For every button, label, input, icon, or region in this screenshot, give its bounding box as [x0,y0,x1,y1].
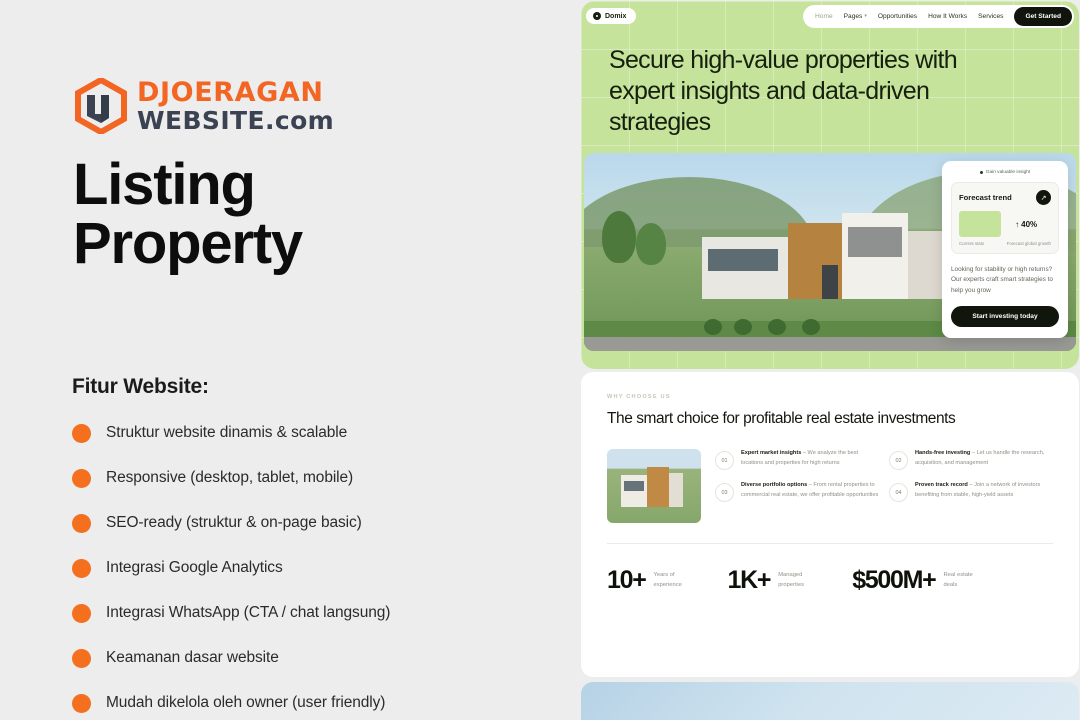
features-list: Struktur website dinamis & scalableRespo… [72,418,542,720]
page-title-line2: Property [73,211,302,276]
section-title: The smart choice for profitable real est… [607,409,1053,429]
stat-label: Managed properties [778,571,822,590]
shrub-shape [768,319,786,335]
feature-item: Integrasi WhatsApp (CTA / chat langsung) [72,598,542,628]
tree-shape [602,211,636,263]
stat-value: 10+ [607,566,646,595]
house-window [848,227,902,257]
arrow-up-right-icon[interactable]: ↗ [1036,190,1051,205]
why-feature-title: Expert market insights [741,450,801,456]
forecast-trend-panel: Forecast trend ↗ ↑ 40% Current stats For… [951,182,1059,254]
forecast-metric-value: 40% [1021,220,1037,229]
bullet-dot-icon [72,649,91,668]
feature-item: Integrasi Google Analytics [72,553,542,583]
mockup-logo-label: Domix [605,13,626,20]
features-heading: Fitur Website: [72,375,209,399]
why-feature-number: 04 [889,483,908,502]
section-body: 01Expert market insights – We analyze th… [607,449,1053,523]
card-top-label: Gain valuable insight [986,170,1031,175]
nav-link-opportunities[interactable]: Opportunities [878,13,917,20]
stat-item: 10+Years of experience [607,566,698,595]
small-house-illustration [621,465,683,507]
feature-label: Responsive (desktop, tablet, mobile) [106,469,353,487]
bullet-dot-icon [72,559,91,578]
house-block [669,473,683,507]
bullet-dot-icon [72,694,91,713]
nav-link-label: Services [978,13,1003,20]
nav-link-home[interactable]: Home [815,13,833,20]
why-feature-title: Diverse portfolio options [741,482,807,488]
feature-label: SEO-ready (struktur & on-page basic) [106,514,362,532]
website-mockup: Domix HomePages▾OpportunitiesHow It Work… [580,0,1080,720]
tree-shape [636,223,666,265]
hero-property-photo: Gain valuable insight Forecast trend ↗ ↑… [584,153,1076,351]
stat-label: Real estate deals [943,571,987,590]
feature-label: Keamanan dasar website [106,649,279,667]
mockup-logo-badge[interactable]: Domix [586,8,636,24]
feature-item: Struktur website dinamis & scalable [72,418,542,448]
mockup-nav-links: HomePages▾OpportunitiesHow It WorksServi… [803,5,1074,28]
property-building-illustration [702,207,952,325]
trend-up-icon: ↑ [1015,220,1019,229]
brand-name-secondary: WEBSITE.com [137,108,334,133]
house-window [708,249,778,271]
bullet-dot-icon [72,424,91,443]
stat-value: 1K+ [728,566,771,595]
stats-row: 10+Years of experience1K+Managed propert… [607,544,1053,595]
house-wood-panel [647,467,669,507]
nav-link-label: Home [815,13,833,20]
feature-item: Keamanan dasar website [72,643,542,673]
stat-label: Years of experience [654,571,698,590]
why-feature-text: Expert market insights – We analyze the … [741,449,879,468]
chevron-down-icon: ▾ [864,13,867,19]
shrub-shape [734,319,752,335]
forecast-sublabels: Current stats Forecast global growth [959,241,1051,246]
bullet-dot-icon [72,469,91,488]
domix-mark-icon [593,12,601,20]
feature-item: Responsive (desktop, tablet, mobile) [72,463,542,493]
nav-link-label: How It Works [928,13,967,20]
house-block [621,475,647,507]
bullet-dot-icon [980,171,983,174]
why-feature-item: 03Diverse portfolio options – From renta… [715,481,879,502]
why-feature-item: 01Expert market insights – We analyze th… [715,449,879,470]
stat-value: $500M+ [852,566,935,595]
card-top-label-row: Gain valuable insight [951,170,1059,175]
feature-label: Integrasi Google Analytics [106,559,283,577]
section-eyebrow: WHY CHOOSE US [607,394,1053,400]
why-feature-number: 03 [715,483,734,502]
brand-lockup: DJOERAGAN WEBSITE.com [75,78,334,134]
why-feature-title: Proven track record [915,482,968,488]
poster-left-panel: DJOERAGAN WEBSITE.com Listing Property F… [0,0,580,720]
feature-label: Struktur website dinamis & scalable [106,424,347,442]
why-feature-text: Proven track record – Join a network of … [915,481,1053,500]
start-investing-button[interactable]: Start investing today [951,306,1059,327]
nav-link-label: Pages [844,13,863,20]
section-property-photo [607,449,701,523]
forecast-label-left: Current stats [959,241,984,246]
djoeragan-hexagon-logo-icon [75,78,127,134]
why-feature-title: Hands-free investing [915,450,970,456]
forecast-floating-card: Gain valuable insight Forecast trend ↗ ↑… [942,161,1068,338]
stat-item: $500M+Real estate deals [852,566,987,595]
page-title-line1: Listing [73,152,255,217]
card-body-text: Looking for stability or high returns? O… [951,265,1059,296]
why-feature-item: 04Proven track record – Join a network o… [889,481,1053,502]
forecast-label-right: Forecast global growth [1007,241,1051,246]
forecast-bars: ↑ 40% [959,211,1051,237]
shrub-shape [704,319,722,335]
page-title: Listing Property [73,155,302,273]
forecast-title: Forecast trend [959,193,1012,202]
mockup-navbar: Domix HomePages▾OpportunitiesHow It Work… [581,1,1079,31]
driveway [584,337,1076,351]
why-feature-number: 02 [889,451,908,470]
nav-link-services[interactable]: Services [978,13,1003,20]
feature-item: Mudah dikelola oleh owner (user friendly… [72,688,542,718]
house-door [822,265,838,299]
forecast-metric: ↑ 40% [1001,211,1051,237]
why-choose-us-section: WHY CHOOSE US The smart choice for profi… [581,372,1079,677]
get-started-button[interactable]: Get Started [1014,7,1072,26]
brand-name-primary: DJOERAGAN [137,79,334,106]
nav-link-how-it-works[interactable]: How It Works [928,13,967,20]
mockup-hero-section: Domix HomePages▾OpportunitiesHow It Work… [581,1,1079,369]
bullet-dot-icon [72,514,91,533]
feature-label: Mudah dikelola oleh owner (user friendly… [106,694,385,712]
bullet-dot-icon [72,604,91,623]
bottom-blue-panel [581,682,1079,720]
forecast-bar-current [959,211,1001,237]
forecast-header: Forecast trend ↗ [959,190,1051,205]
why-feature-number: 01 [715,451,734,470]
stat-item: 1K+Managed properties [728,566,823,595]
feature-label: Integrasi WhatsApp (CTA / chat langsung) [106,604,390,622]
shrub-shape [802,319,820,335]
house-window [624,481,644,491]
nav-link-pages[interactable]: Pages▾ [844,13,867,20]
feature-item: SEO-ready (struktur & on-page basic) [72,508,542,538]
why-feature-item: 02Hands-free investing – Let us handle t… [889,449,1053,470]
why-features-grid: 01Expert market insights – We analyze th… [715,449,1053,502]
why-feature-text: Hands-free investing – Let us handle the… [915,449,1053,468]
nav-link-label: Opportunities [878,13,917,20]
hero-headline: Secure high-value properties with expert… [609,45,999,137]
why-feature-text: Diverse portfolio options – From rental … [741,481,879,500]
